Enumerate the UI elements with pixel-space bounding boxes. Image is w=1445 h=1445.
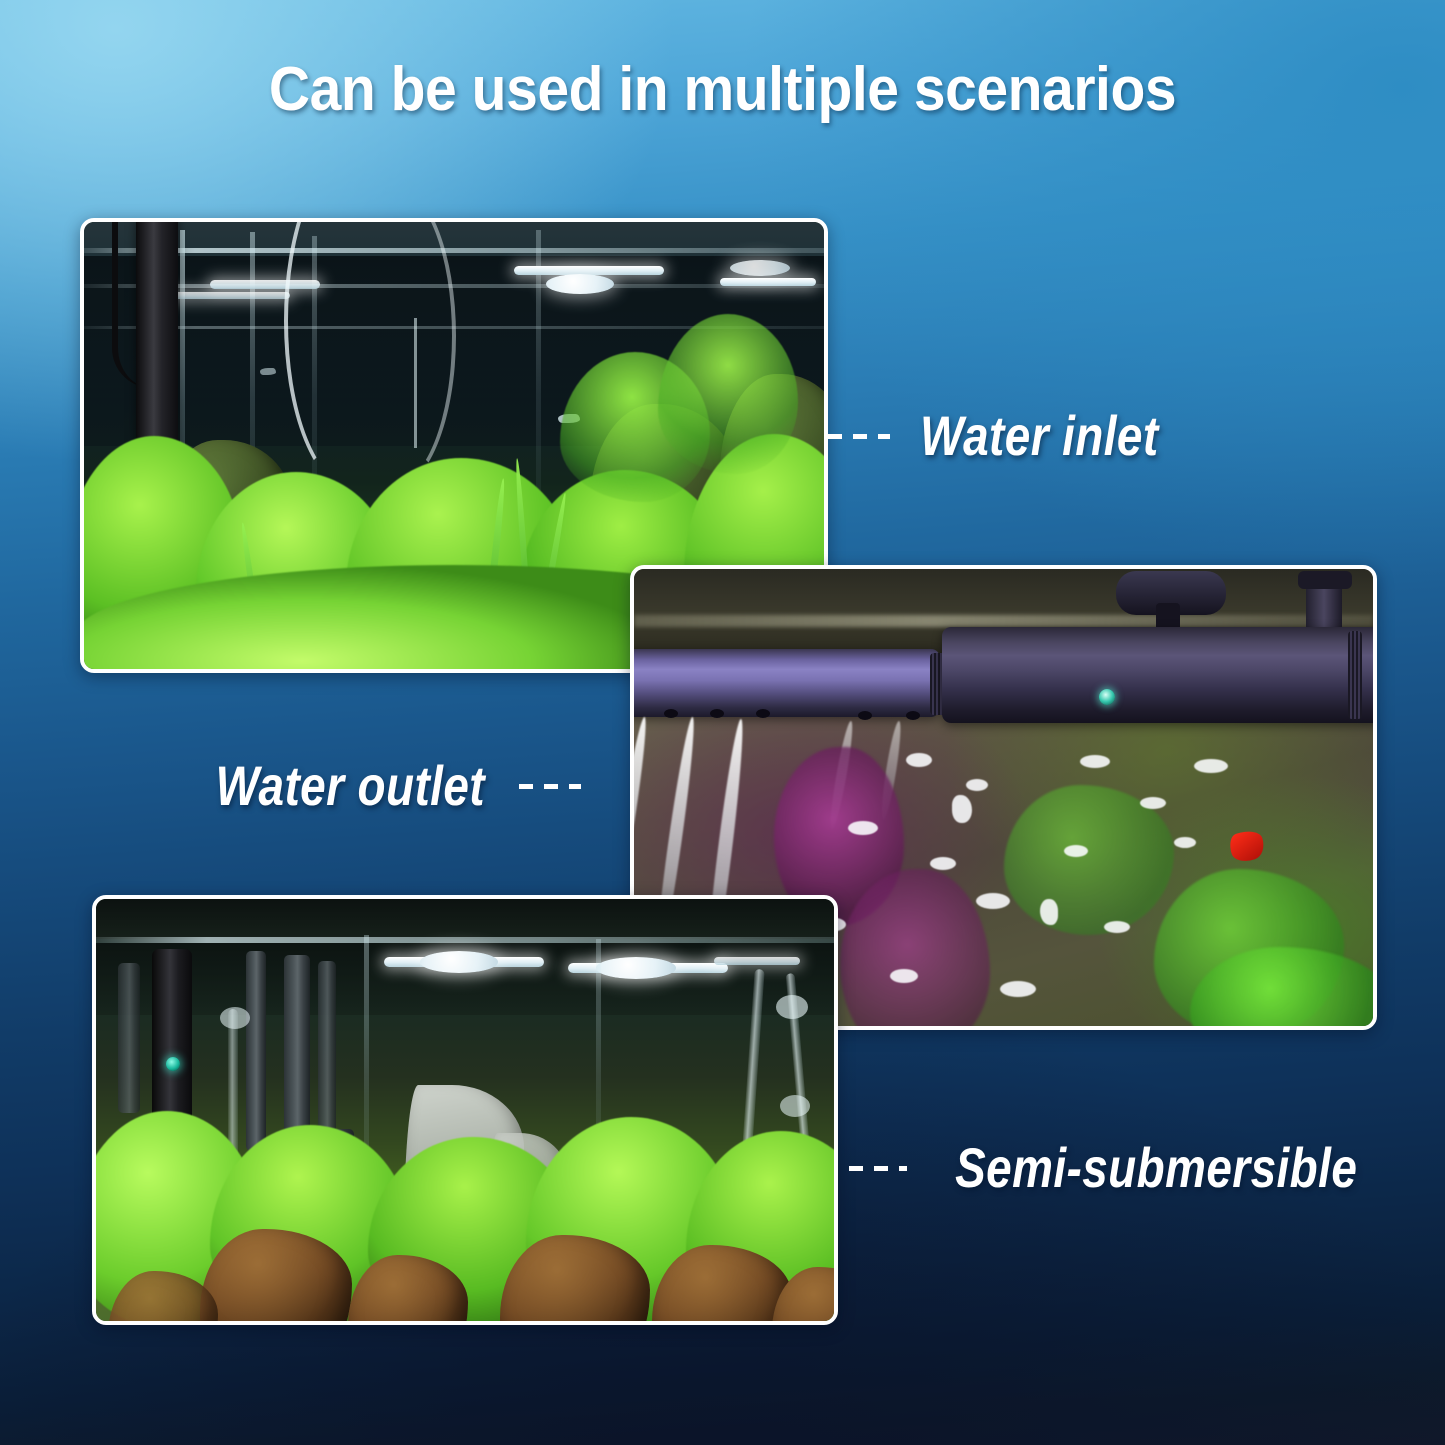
led-disc-right [596,957,676,979]
back-pvc-pipe-2 [284,955,310,1145]
water-foam-8 [1194,759,1228,773]
water-foam-9 [1064,845,1088,857]
aquarium-semi-submersible-scene [96,899,834,1321]
pump-pipe-indicator-icon [1099,689,1115,705]
lily-pipe-mid-bulb [220,1007,250,1029]
callout-label: Semi-submersible [955,1140,1357,1196]
water-foam-11 [890,969,918,983]
lily-pipe-bulb-2 [780,1095,810,1117]
pipe-nozzle-5 [906,711,920,720]
back-pvc-pipe-3 [318,961,336,1139]
pump-pipe-end-collar [1348,631,1362,719]
back-pvc-pipe-4 [118,963,140,1113]
water-foam-5 [976,893,1010,909]
water-foam-6 [1080,755,1110,768]
tank-glass-rim-top [84,248,824,253]
promo-banner: Can be used in multiple scenarios [0,0,1445,1445]
water-foam-16 [1040,899,1058,925]
fish-2 [260,368,276,375]
rock-shelf-highlight [634,615,1373,627]
callout-label: Water outlet [216,758,485,814]
pump-pipe-light-section [630,649,940,717]
leader-line-icon [849,1166,907,1171]
aquarium-hose-3 [414,318,417,448]
water-foam-15 [952,795,972,823]
callout-label: Water inlet [920,408,1158,464]
pipe-elbow-cap [1298,571,1352,589]
back-pvc-pipe-1 [246,951,266,1151]
led-disc-left [420,951,498,973]
water-foam-12 [1000,981,1036,997]
callout-water-inlet: Water inlet [828,408,1185,464]
leader-line-icon [519,784,581,789]
page-title: Can be used in multiple scenarios [58,56,1387,124]
pipe-nozzle-3 [756,709,770,718]
pump-tube-indicator-icon [166,1057,180,1071]
photo-aquarium-semi-submersible [92,895,838,1325]
lily-pipe-bulb-1 [776,995,808,1019]
led-light-bar-3 [170,292,290,299]
led-light-bar-2 [720,278,816,286]
tank-glass-edge-far [536,230,541,530]
tank-glass-rim-mid [84,284,824,288]
pipe-nozzle-2 [710,709,724,718]
water-foam-3 [848,821,878,835]
water-foam-2 [966,779,988,791]
callout-water-outlet: Water outlet [186,758,581,814]
water-foam-14 [1174,837,1196,848]
pipe-nozzle-4 [858,711,872,720]
water-foam-7 [1140,797,1166,809]
led-light-disc-2 [730,260,790,276]
water-foam-13 [1104,921,1130,933]
tank-rim-band [96,899,834,939]
pump-pipe-dark-section [942,627,1377,723]
callout-semi-submersible: Semi-submersible [849,1140,1401,1196]
led-bar-far-right [714,957,800,965]
led-light-disc-1 [546,274,614,294]
water-foam-4 [930,857,956,870]
leader-line-icon [828,434,890,439]
pipe-nozzle-1 [664,709,678,718]
lily-pipe-mid [228,1009,238,1159]
water-foam-1 [906,753,932,767]
